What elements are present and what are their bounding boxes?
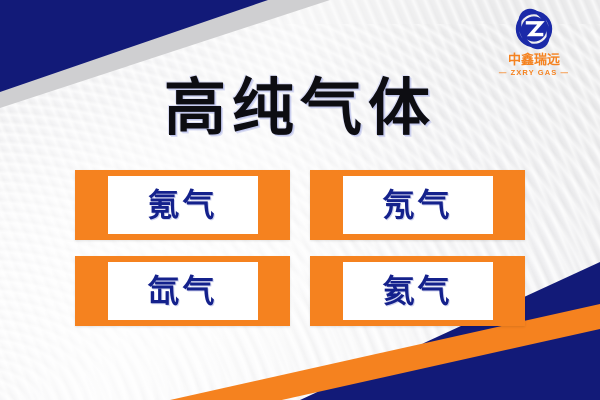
product-label: 氦气	[382, 275, 452, 307]
product-inner-panel: 氖气	[343, 176, 493, 234]
brand-name-en: — ZXRY GAS —	[482, 68, 586, 77]
brand-logo: 中鑫瑞远 — ZXRY GAS —	[482, 6, 586, 84]
product-inner-panel: 氙气	[108, 262, 258, 320]
product-box[interactable]: 氪气	[75, 170, 290, 240]
zxry-z-circle-icon	[508, 6, 560, 52]
product-box[interactable]: 氦气	[310, 256, 525, 326]
poster-canvas: 中鑫瑞远 — ZXRY GAS — 高纯气体 氪气 氖气 氙气 氦气	[0, 0, 600, 400]
product-inner-panel: 氪气	[108, 176, 258, 234]
product-box[interactable]: 氙气	[75, 256, 290, 326]
product-grid: 氪气 氖气 氙气 氦气	[75, 170, 525, 326]
brand-name-cn: 中鑫瑞远	[482, 53, 586, 66]
product-label: 氖气	[382, 189, 452, 221]
product-label: 氙气	[147, 275, 217, 307]
product-box[interactable]: 氖气	[310, 170, 525, 240]
product-inner-panel: 氦气	[343, 262, 493, 320]
product-label: 氪气	[147, 189, 217, 221]
page-title: 高纯气体	[0, 78, 600, 140]
